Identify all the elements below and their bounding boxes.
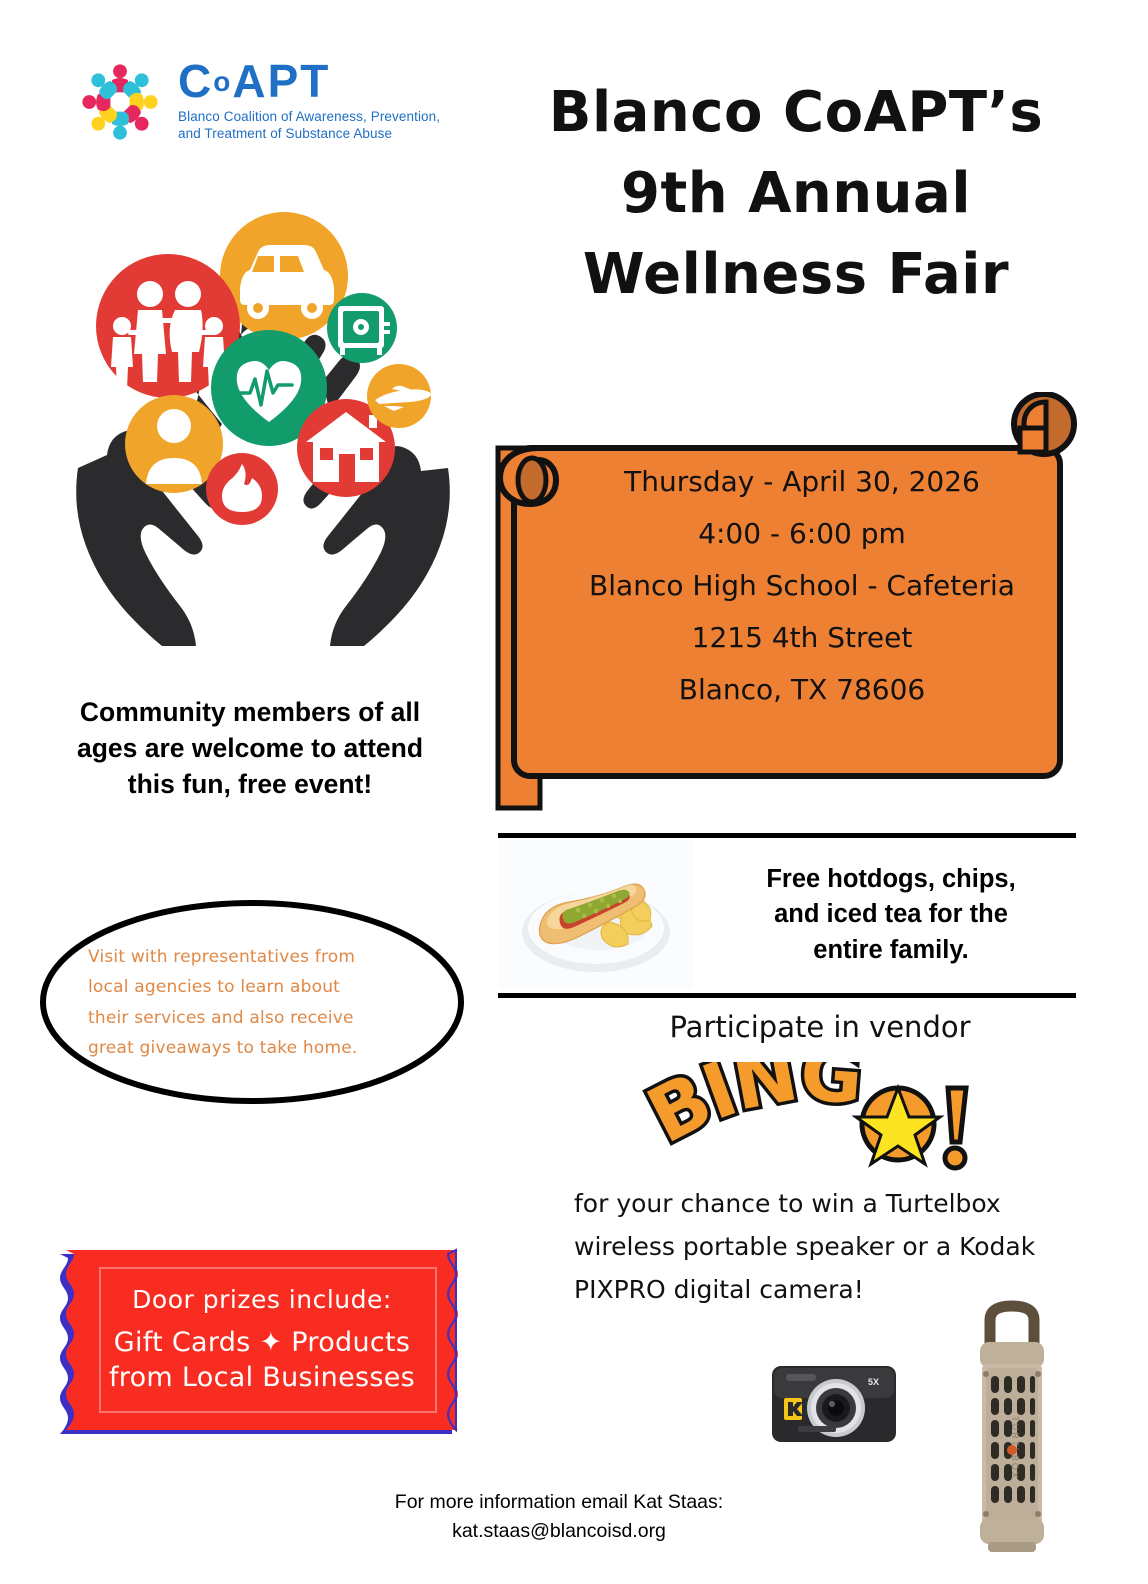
footer-line1: For more information email Kat Staas: xyxy=(334,1488,784,1517)
coapt-letter-o: o xyxy=(213,66,232,97)
coapt-logo-text: CoAPT Blanco Coalition of Awareness, Pre… xyxy=(178,60,440,143)
oval-line2: local agencies to learn about xyxy=(88,972,418,1002)
bingo-tail-line1: for your chance to win a Turtelbox xyxy=(574,1182,1074,1225)
event-date: Thursday - April 30, 2026 xyxy=(552,456,1052,508)
oval-line3: their services and also receive xyxy=(88,1003,418,1033)
hotdog-chips-plate-photo xyxy=(498,840,694,990)
airplane-icon-circle xyxy=(367,364,431,428)
coapt-letter-c: C xyxy=(178,55,213,107)
coapt-people-circle-icon xyxy=(72,54,168,150)
title-line3: Wellness Fair xyxy=(496,234,1096,315)
hotdog-rule-top xyxy=(498,833,1076,838)
svg-text:BING: BING xyxy=(640,1062,863,1160)
event-details-text: Thursday - April 30, 2026 4:00 - 6:00 pm… xyxy=(552,456,1052,716)
welcome-message: Community members of all ages are welcom… xyxy=(36,694,464,802)
bingo-logo: BING xyxy=(640,1062,980,1174)
ticket-text: Door prizes include: Gift Cards ✦ Produc… xyxy=(52,1244,472,1436)
ticket-line2: Gift Cards ✦ Products xyxy=(114,1326,411,1361)
coapt-subtitle-line2: and Treatment of Substance Abuse xyxy=(178,125,440,143)
event-venue: Blanco High School - Cafeteria xyxy=(552,560,1052,612)
hotdog-rule-bottom xyxy=(498,993,1076,998)
food-caption: Free hotdogs, chips, and iced tea for th… xyxy=(694,840,1074,990)
representatives-oval-callout: Visit with representatives from local ag… xyxy=(36,898,468,1106)
safe-icon-circle xyxy=(327,293,397,363)
event-details-scroll: Thursday - April 30, 2026 4:00 - 6:00 pm… xyxy=(484,392,1088,812)
turtlebox-speaker-photo: TURTLBOX xyxy=(966,1298,1058,1564)
coapt-logo: CoAPT Blanco Coalition of Awareness, Pre… xyxy=(72,44,452,159)
bingo-word: BING xyxy=(640,1062,863,1160)
bingo-prizes-text: for your chance to win a Turtelbox wirel… xyxy=(574,1182,1074,1311)
bingo-tail-line2: wireless portable speaker or a Kodak xyxy=(574,1225,1074,1268)
food-caption-line3: entire family. xyxy=(766,933,1015,968)
contact-email: kat.staas@blancoisd.org xyxy=(334,1517,784,1546)
welcome-line2: ages are welcome to attend xyxy=(36,730,464,766)
fire-icon-circle xyxy=(206,453,278,525)
food-caption-line2: and iced tea for the xyxy=(766,897,1015,932)
welcome-line3: this fun, free event! xyxy=(36,766,464,802)
title-line1: Blanco CoAPT’s xyxy=(496,72,1096,153)
welcome-line1: Community members of all xyxy=(36,694,464,730)
coapt-acronym: CoAPT xyxy=(178,60,440,104)
food-section: Free hotdogs, chips, and iced tea for th… xyxy=(498,840,1074,990)
camera-zoom-label: 5X xyxy=(868,1377,879,1387)
door-prizes-ticket: Door prizes include: Gift Cards ✦ Produc… xyxy=(52,1244,472,1436)
contact-footer: For more information email Kat Staas: ka… xyxy=(334,1488,784,1547)
hands-holding-icons-illustration xyxy=(62,196,464,648)
event-time: 4:00 - 6:00 pm xyxy=(552,508,1052,560)
ticket-line3: from Local Businesses xyxy=(109,1361,415,1396)
oval-line1: Visit with representatives from xyxy=(88,942,418,972)
food-caption-line1: Free hotdogs, chips, xyxy=(766,862,1015,897)
oval-line4: great giveaways to take home. xyxy=(88,1033,418,1063)
coapt-letters-apt: APT xyxy=(232,55,330,107)
kodak-pixpro-camera-photo: 5X xyxy=(768,1352,900,1456)
ticket-line1: Door prizes include: xyxy=(132,1285,392,1314)
bingo-lead-text: Participate in vendor xyxy=(560,1010,1080,1044)
oval-text: Visit with representatives from local ag… xyxy=(88,942,418,1063)
coapt-subtitle: Blanco Coalition of Awareness, Preventio… xyxy=(178,108,440,144)
title-line2: 9th Annual xyxy=(496,153,1096,234)
event-citystate: Blanco, TX 78606 xyxy=(552,664,1052,716)
page-title: Blanco CoAPT’s 9th Annual Wellness Fair xyxy=(496,72,1096,316)
coapt-subtitle-line1: Blanco Coalition of Awareness, Preventio… xyxy=(178,108,440,126)
event-street: 1215 4th Street xyxy=(552,612,1052,664)
